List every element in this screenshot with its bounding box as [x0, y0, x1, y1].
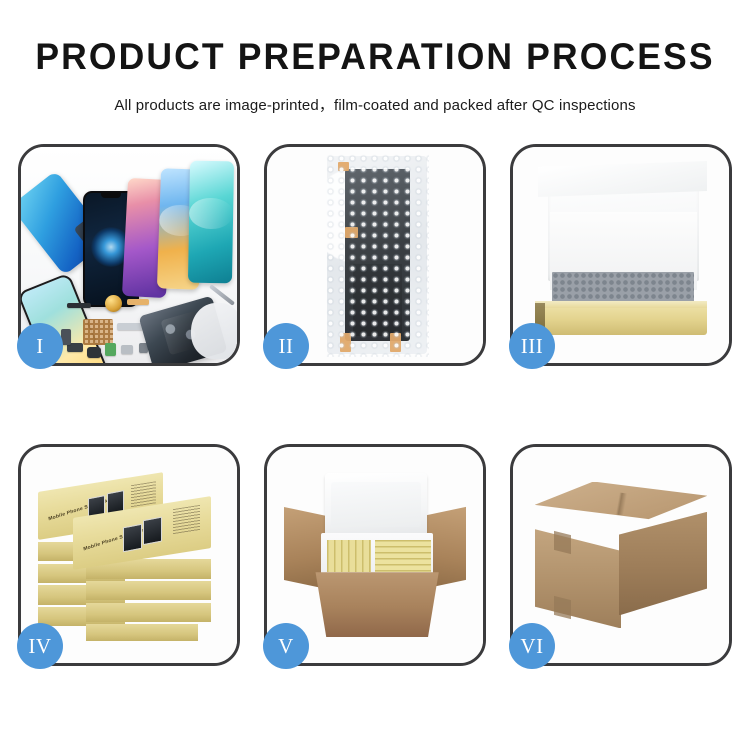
step-badge-2: II — [263, 323, 309, 369]
step-badge-4: IV — [17, 623, 63, 669]
component-icon — [121, 345, 133, 354]
page-header: PRODUCT PREPARATION PROCESS All products… — [0, 0, 750, 115]
kraft-box-tray — [535, 307, 708, 335]
yellow-boxes-group-left — [327, 540, 370, 572]
stacked-box-edge — [86, 624, 198, 641]
box-phone-graphic — [123, 524, 142, 552]
page-subtitle: All products are image-printed，film-coat… — [0, 94, 750, 115]
carton-front-panel — [310, 572, 444, 637]
carton-right-face — [619, 512, 708, 616]
box-spec-lines — [131, 480, 156, 507]
process-step-panel-4[interactable]: Mobile Phone Spare Parts Mobile Phone Sp… — [18, 444, 240, 666]
carton-tape-lower — [554, 596, 571, 620]
step-badge-1: I — [17, 323, 63, 369]
process-step-panel-3[interactable]: III — [510, 144, 732, 366]
flex-cable-icon — [127, 299, 149, 305]
process-step-panel-5[interactable]: V — [264, 444, 486, 666]
process-step-grid: I II III — [18, 144, 732, 689]
process-step-panel-6[interactable]: VI — [510, 444, 732, 666]
carton-left-face — [535, 529, 621, 628]
stacked-box-edge — [86, 581, 211, 600]
step-badge-5: V — [263, 623, 309, 669]
page-title: PRODUCT PREPARATION PROCESS — [15, 38, 735, 75]
box-spec-lines — [172, 506, 200, 536]
step-badge-3: III — [509, 323, 555, 369]
hand-icon — [191, 303, 237, 359]
bubble-texture — [325, 153, 429, 356]
flex-cable-icon — [67, 303, 91, 308]
yellow-boxes-group-right — [375, 540, 431, 572]
component-icon — [87, 347, 101, 358]
box-phone-graphic — [143, 517, 162, 545]
stacked-box-edge — [86, 603, 211, 622]
flex-cable-icon — [117, 323, 143, 330]
process-step-panel-1[interactable]: I — [18, 144, 240, 366]
teal-phone-screen-icon — [188, 161, 234, 284]
foam-lid — [325, 473, 427, 538]
step-badge-6: VI — [509, 623, 555, 669]
screws-grid-icon — [83, 319, 113, 345]
component-icon — [105, 343, 116, 356]
gold-coil-icon — [105, 295, 122, 312]
process-step-panel-2[interactable]: II — [264, 144, 486, 366]
